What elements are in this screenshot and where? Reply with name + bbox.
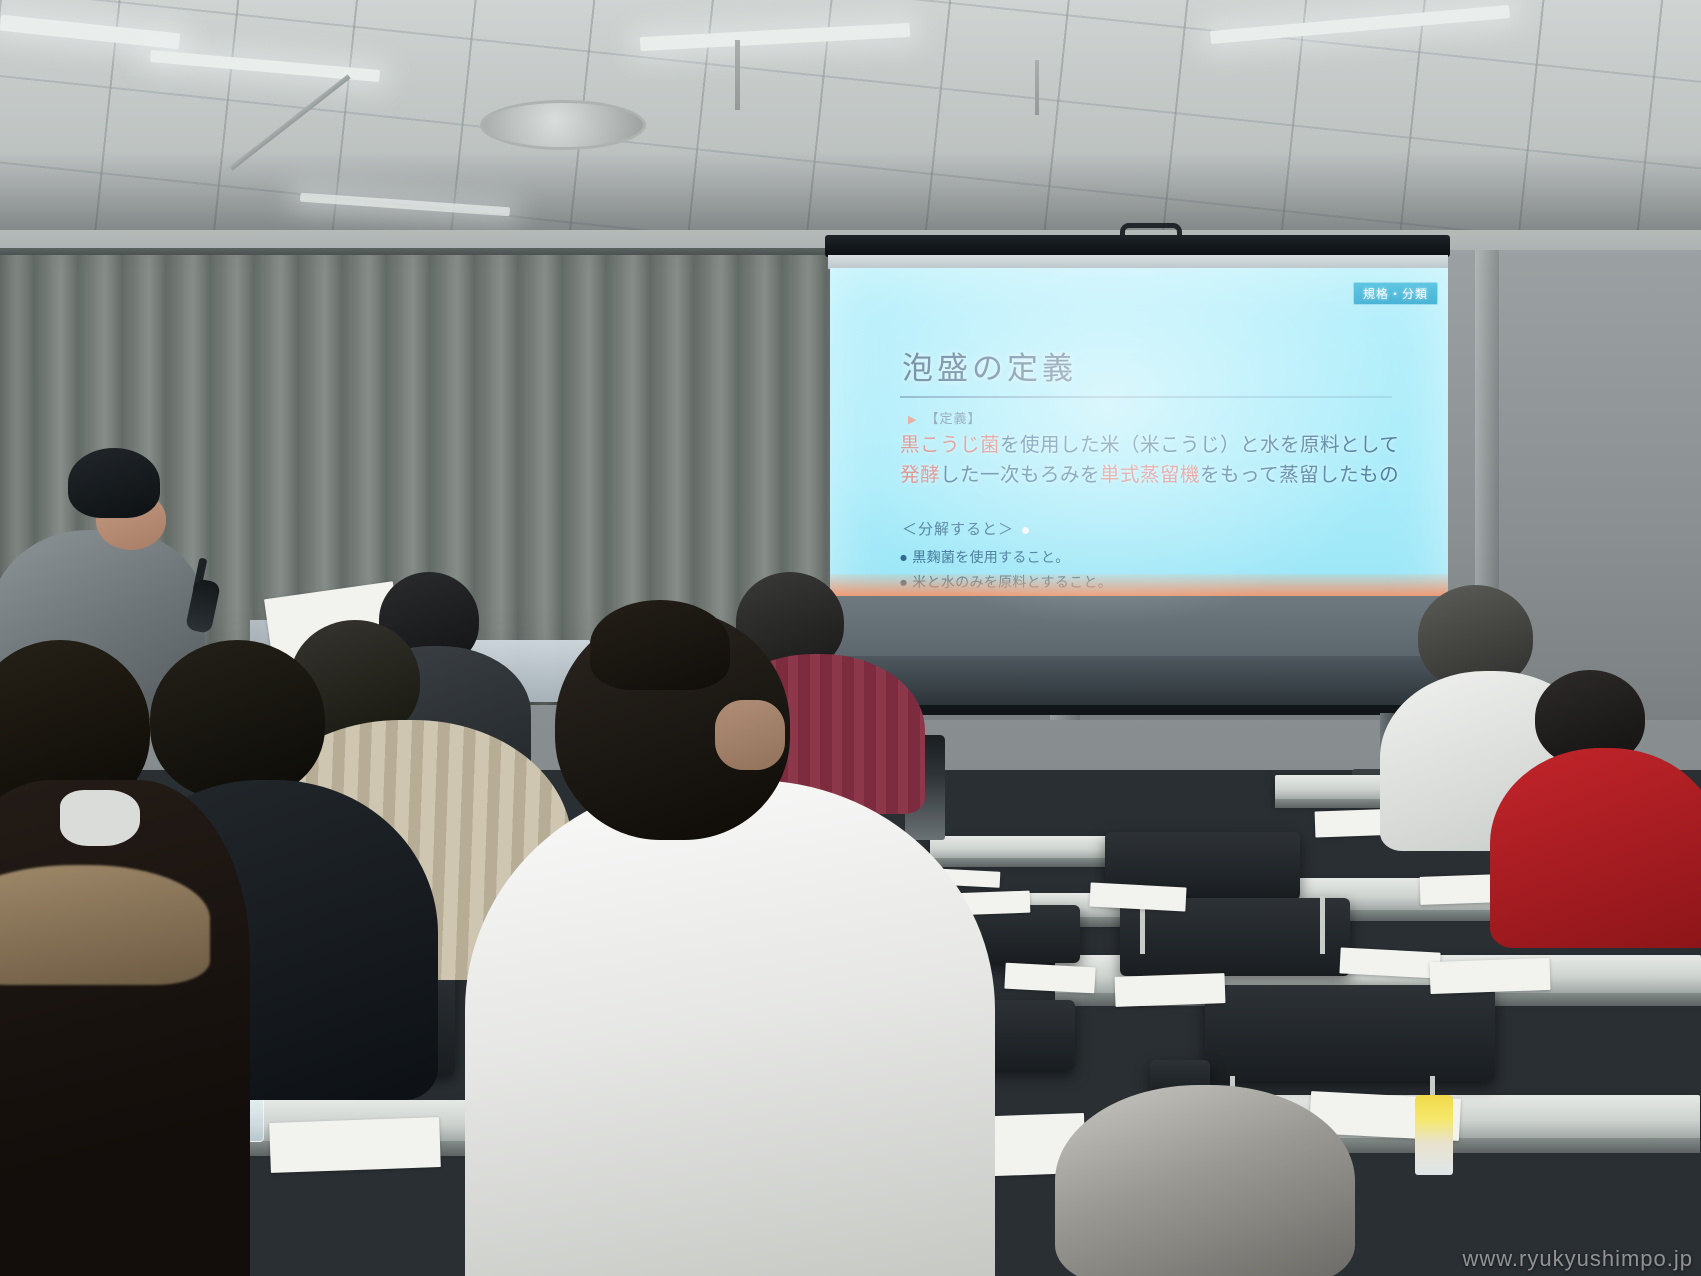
slide-breakdown-heading: ＜分解すると＞ [902,518,1029,539]
face-mask [60,790,140,846]
head [1055,1085,1355,1276]
slide-title: 泡盛の定義 [902,343,1077,388]
photograph-scene: 規格・分類 泡盛の定義 ▶【定義】 黒こうじ菌を使用した米（米こうじ）と水を原料… [0,0,1701,1276]
ceiling-air-vent [480,100,646,150]
definition-line-2-run-0: 発酵 [900,463,940,486]
torso-red-jacket [1490,748,1701,948]
handout-paper [1004,963,1095,994]
slide-accent-band [830,574,1448,596]
handout-paper [1115,973,1226,1007]
slide-subheading-text: 【定義】 [925,411,981,426]
ceiling-hanger-rod [735,40,740,110]
presenter-cap [68,448,160,518]
audience-member-front-left [0,640,290,1276]
white-dot-icon [1022,527,1029,534]
definition-line-2-run-3: をもって蒸留したもの [1200,463,1399,486]
slide-bullet-item: 黒麹菌を使用すること。 [900,546,1440,571]
chair-leg [1320,896,1325,954]
plastic-bottle [1415,1095,1453,1175]
chair [1205,985,1495,1081]
handout-paper [1339,947,1440,978]
slide-subheading: ▶【定義】 [908,408,981,427]
hair-bun [590,600,730,690]
definition-line-2: 発酵した一次もろみを単式蒸留機をもって蒸留したもの [900,460,1420,490]
definition-line-1: 黒こうじ菌を使用した米（米こうじ）と水を原料として [900,430,1420,460]
slide-breakdown-heading-text: ＜分解すると＞ [902,521,1014,538]
triangle-bullet-icon: ▶ [908,414,917,426]
fur-collar [0,865,210,985]
ceiling-hanger-rod [1035,60,1039,115]
handout-paper [1429,958,1550,994]
torso-white-hoodie [465,780,995,1276]
slide-section-badge: 規格・分類 [1353,282,1438,305]
handout-paper [269,1117,441,1173]
definition-line-2-run-2: 単式蒸留機 [1100,463,1200,486]
screen-top-edge [828,255,1448,269]
projected-slide: 規格・分類 泡盛の定義 ▶【定義】 黒こうじ菌を使用した米（米こうじ）と水を原料… [830,268,1448,656]
screen-housing [825,235,1450,257]
definition-line-1-run-1: を使用した米（米こうじ）と水を原料として [1000,433,1399,456]
slide-definition-body: 黒こうじ菌を使用した米（米こうじ）と水を原料として 発酵した一次もろみを単式蒸留… [900,430,1420,490]
audience-member-front-center [425,600,995,1276]
handout-paper [1089,883,1186,912]
slide-title-rule [900,396,1392,398]
audience-member-foreground [1055,1085,1355,1276]
torso-winter-coat [0,780,250,1276]
definition-line-1-run-0: 黒こうじ菌 [900,433,1000,456]
audience-member [1495,670,1701,910]
watermark: www.ryukyushimpo.jp [1462,1246,1693,1272]
definition-line-2-run-1: した一次もろみを [940,463,1100,486]
ear [715,700,785,770]
